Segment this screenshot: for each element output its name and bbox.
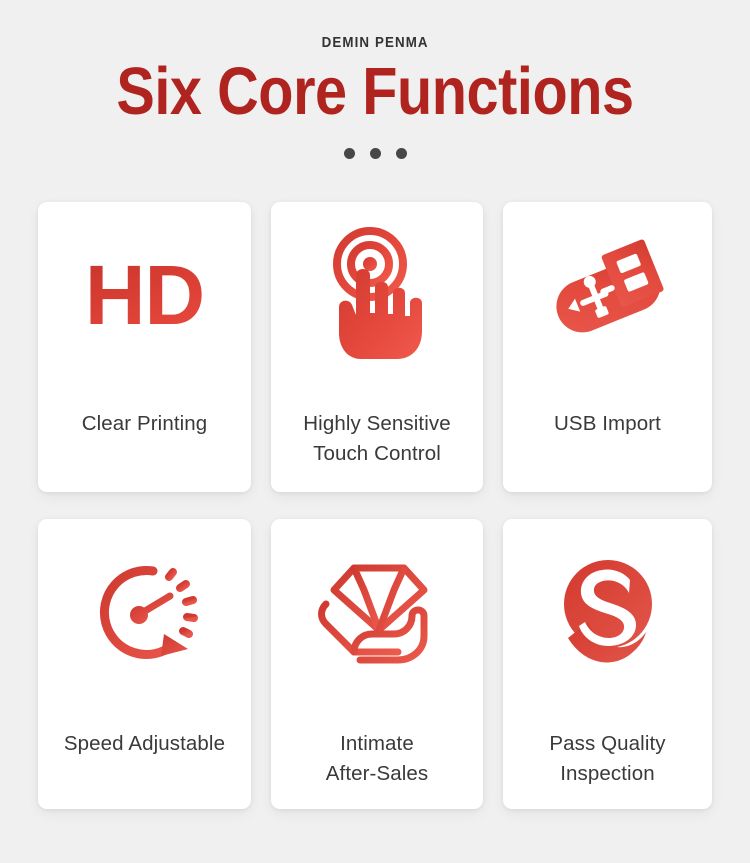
usb-flash-drive-icon xyxy=(503,202,712,388)
separator-dot xyxy=(370,148,381,159)
page-title: Six Core Functions xyxy=(53,58,698,126)
page-header: DEMIN PENMA Six Core Functions xyxy=(0,0,750,159)
eyebrow-wrapper: DEMIN PENMA xyxy=(0,34,750,52)
touch-hand-icon xyxy=(271,202,483,388)
page-title-wrapper: Six Core Functions xyxy=(0,58,750,126)
feature-card-usb-import[interactable]: USB Import xyxy=(503,202,712,492)
diamond-in-hand-icon xyxy=(271,519,483,705)
feature-card-quality-inspection[interactable]: Pass Quality Inspection xyxy=(503,519,712,809)
feature-label: Clear Printing xyxy=(38,388,251,492)
features-grid: HD Clear Printing xyxy=(38,202,712,809)
separator-dot xyxy=(396,148,407,159)
feature-label: Intimate After-Sales xyxy=(271,705,483,809)
qs-quality-seal-icon xyxy=(503,519,712,705)
feature-card-after-sales[interactable]: Intimate After-Sales xyxy=(271,519,483,809)
speedometer-icon xyxy=(38,519,251,705)
feature-card-clear-printing[interactable]: HD Clear Printing xyxy=(38,202,251,492)
feature-card-speed-adjustable[interactable]: Speed Adjustable xyxy=(38,519,251,809)
feature-grid-page: DEMIN PENMA Six Core Functions HD Clear … xyxy=(0,0,750,863)
feature-label: Pass Quality Inspection xyxy=(503,705,712,809)
brand-eyebrow: DEMIN PENMA xyxy=(321,35,428,51)
feature-label: Speed Adjustable xyxy=(38,705,251,809)
feature-label: USB Import xyxy=(503,388,712,492)
separator-dot xyxy=(344,148,355,159)
dot-separator xyxy=(0,148,750,159)
hd-text-icon-label: HD xyxy=(85,253,204,337)
hd-text-icon: HD xyxy=(38,202,251,388)
feature-card-touch-control[interactable]: Highly Sensitive Touch Control xyxy=(271,202,483,492)
feature-label: Highly Sensitive Touch Control xyxy=(271,388,483,492)
